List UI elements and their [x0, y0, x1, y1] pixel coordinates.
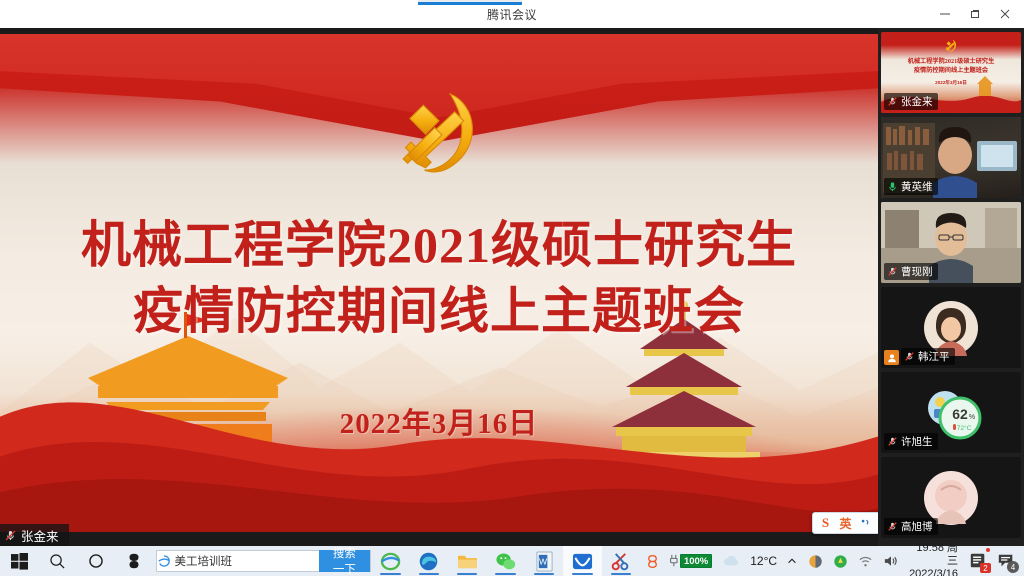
participant-name-chip: 张金来: [884, 93, 938, 110]
file-explorer-icon[interactable]: [448, 546, 486, 576]
participant-tile[interactable]: 62 % 72°C 许旭生: [881, 372, 1021, 453]
mic-muted-icon: [904, 351, 915, 362]
wifi-icon[interactable]: [853, 546, 878, 576]
cloud-icon[interactable]: [717, 546, 746, 576]
mic-muted-icon: [887, 266, 898, 277]
participant-rail[interactable]: 机械工程学院2021级硕士研究生 疫情防控期间线上主题班会 2022年3月16日…: [878, 28, 1024, 546]
mic-active-icon: [887, 181, 898, 192]
window-title-bar: 腾讯会议: [0, 0, 1024, 28]
system-tray[interactable]: 100% 12°C 19:58 周三: [640, 546, 1024, 576]
lang-mode-label[interactable]: 英: [838, 515, 853, 531]
wechat-icon[interactable]: [486, 546, 524, 576]
mic-muted-icon: [4, 529, 17, 542]
internet-explorer-icon[interactable]: [371, 546, 409, 576]
sogou-logo-icon[interactable]: S: [818, 515, 833, 531]
svg-text:W: W: [539, 556, 548, 566]
participant-name: 张金来: [901, 94, 933, 109]
meeting-window: 机械工程学院2021级硕士研究生 疫情防控期间线上主题班会 2022年3月16日…: [0, 28, 1024, 546]
slide-date: 2022年3月16日: [0, 400, 878, 442]
screen: 腾讯会议: [0, 0, 1024, 576]
clock-date: 2022/3/16: [909, 568, 958, 576]
search-icon[interactable]: [38, 546, 76, 576]
tencent-meeting-icon[interactable]: [563, 546, 601, 576]
slide-title: 机械工程学院2021级硕士研究生 疫情防控期间线上主题班会: [0, 212, 878, 344]
mic-muted-icon: [887, 96, 898, 107]
punctuation-icon[interactable]: [858, 515, 873, 531]
hammer-sickle-emblem-icon: [383, 76, 495, 188]
shared-screen-stage[interactable]: 机械工程学院2021级硕士研究生 疫情防控期间线上主题班会 2022年3月16日…: [0, 28, 878, 546]
green-shield-icon[interactable]: [828, 546, 853, 576]
action-center-icon[interactable]: 4: [992, 546, 1020, 576]
chevron-up-icon[interactable]: [781, 546, 803, 576]
participant-name: 韩江平: [918, 349, 950, 364]
participant-name: 许旭生: [901, 434, 933, 449]
participant-tile[interactable]: 韩江平: [881, 287, 1021, 368]
participant-name: 高旭博: [901, 519, 933, 534]
mic-muted-icon: [887, 436, 898, 447]
participant-tile[interactable]: 曹现刚: [881, 202, 1021, 283]
participant-name: 曹现刚: [901, 264, 933, 279]
gauge-temp-value: 72°C: [957, 424, 972, 432]
qq-news-icon[interactable]: 2: [964, 546, 992, 576]
participant-name-chip: 高旭博: [884, 518, 938, 535]
sogou-ime-toolbar[interactable]: S 英 A文: [812, 512, 878, 534]
participant-name-chip: 黄英维: [884, 178, 938, 195]
action-center-badge: 4: [1007, 561, 1019, 573]
maximize-icon[interactable]: [960, 1, 990, 27]
slide-title-line-2: 疫情防控期间线上主题班会: [0, 278, 878, 344]
clock[interactable]: 19:58 周三 2022/3/16: [903, 542, 964, 576]
wps-writer-icon[interactable]: W: [525, 546, 563, 576]
window-controls: [930, 0, 1020, 28]
snip-tool-icon[interactable]: [602, 546, 640, 576]
search-submit-button[interactable]: 搜索一下: [319, 550, 371, 572]
host-person-icon: [887, 353, 897, 363]
sogou-icon[interactable]: [115, 546, 153, 576]
window-title: 腾讯会议: [0, 0, 1024, 28]
participant-tile[interactable]: 高旭博: [881, 457, 1021, 538]
gauge-percent-unit: %: [969, 414, 975, 421]
participant-name-chip: 曹现刚: [884, 263, 938, 280]
participant-name-chip: 韩江平: [901, 348, 955, 365]
participant-name: 黄英维: [901, 179, 933, 194]
slide-title-line-1: 机械工程学院2021级硕士研究生: [0, 212, 878, 278]
shield-icon[interactable]: [803, 546, 828, 576]
battery-indicator[interactable]: 100%: [665, 546, 717, 576]
search-box[interactable]: 搜索一下: [156, 550, 372, 572]
power-plug-icon: [670, 554, 678, 568]
qq-news-badge: 2: [980, 563, 991, 573]
microsoft-edge-icon[interactable]: [410, 546, 448, 576]
windows-start-icon[interactable]: [0, 546, 38, 576]
minimize-icon[interactable]: [930, 1, 960, 27]
gauge-percent-value: 62: [952, 406, 968, 422]
cortana-icon[interactable]: [77, 546, 115, 576]
notification-dot-icon: [986, 548, 990, 552]
presenter-name: 张金来: [21, 526, 59, 545]
search-input[interactable]: [171, 551, 319, 571]
presentation-slide: 机械工程学院2021级硕士研究生 疫情防控期间线上主题班会 2022年3月16日: [0, 34, 878, 532]
windows-taskbar[interactable]: 搜索一下 W 100: [0, 546, 1024, 576]
presenter-name-chip: 张金来: [0, 524, 69, 546]
participant-tile[interactable]: 机械工程学院2021级硕士研究生 疫情防控期间线上主题班会 2022年3月16日…: [881, 32, 1021, 113]
host-badge: [884, 350, 899, 365]
volume-icon[interactable]: [878, 546, 903, 576]
participant-tile[interactable]: 黄英维: [881, 117, 1021, 198]
mic-muted-icon: [887, 521, 898, 532]
close-icon[interactable]: [990, 1, 1020, 27]
temperature-label: 12°C: [746, 554, 781, 568]
participant-name-chip: 许旭生: [884, 433, 938, 450]
internet-explorer-icon: [157, 554, 171, 568]
clock-time: 19:58 周三: [909, 542, 958, 568]
battery-percent: 100%: [680, 554, 712, 568]
sogou-tray-icon[interactable]: [640, 546, 665, 576]
